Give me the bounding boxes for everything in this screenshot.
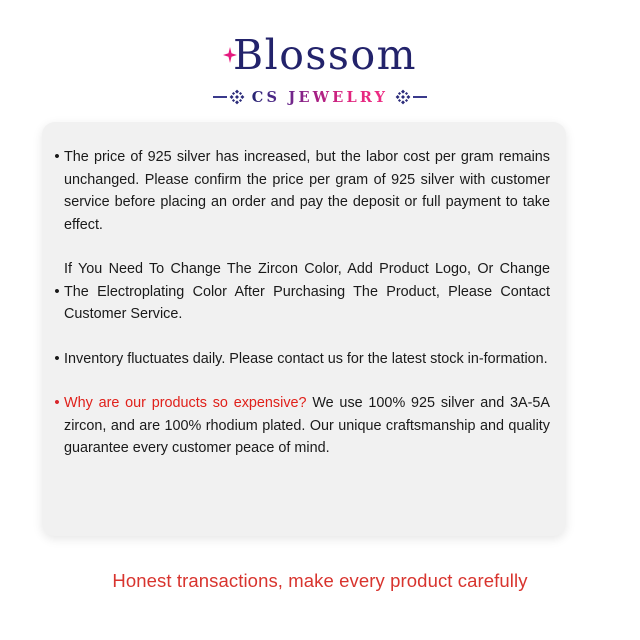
bullet-icon: • (50, 392, 64, 415)
notice-highlight: Why are our products so expensive? (64, 395, 307, 411)
brand-header: Blossom CS JEWELRY (0, 0, 640, 107)
list-item: • The price of 925 silver has increased,… (50, 146, 558, 236)
sub-brand-row: CS JEWELRY (0, 87, 640, 107)
notice-text: If You Need To Change The Zircon Color, … (64, 258, 558, 326)
sub-brand-name: CS JEWELRY (252, 89, 388, 106)
notice-text: The price of 925 silver has increased, b… (64, 146, 558, 236)
list-item: • If You Need To Change The Zircon Color… (50, 258, 558, 326)
list-item: • Why are our products so expensive? We … (50, 392, 558, 460)
notice-text: Inventory fluctuates daily. Please conta… (64, 348, 558, 371)
bullet-icon: • (50, 146, 64, 169)
list-item: • Inventory fluctuates daily. Please con… (50, 348, 558, 371)
notice-card: • The price of 925 silver has increased,… (42, 122, 566, 536)
star-ornament-left-icon (213, 89, 245, 105)
sparkle-icon (223, 33, 237, 77)
notice-list: • The price of 925 silver has increased,… (50, 146, 558, 460)
bullet-icon: • (50, 281, 64, 304)
brand-logo-row: Blossom (0, 30, 640, 80)
footer-tagline: Honest transactions, make every product … (0, 570, 640, 592)
brand-name: Blossom (233, 35, 417, 76)
notice-text: Why are our products so expensive? We us… (64, 392, 558, 460)
star-ornament-right-icon (395, 89, 427, 105)
bullet-icon: • (50, 348, 64, 371)
